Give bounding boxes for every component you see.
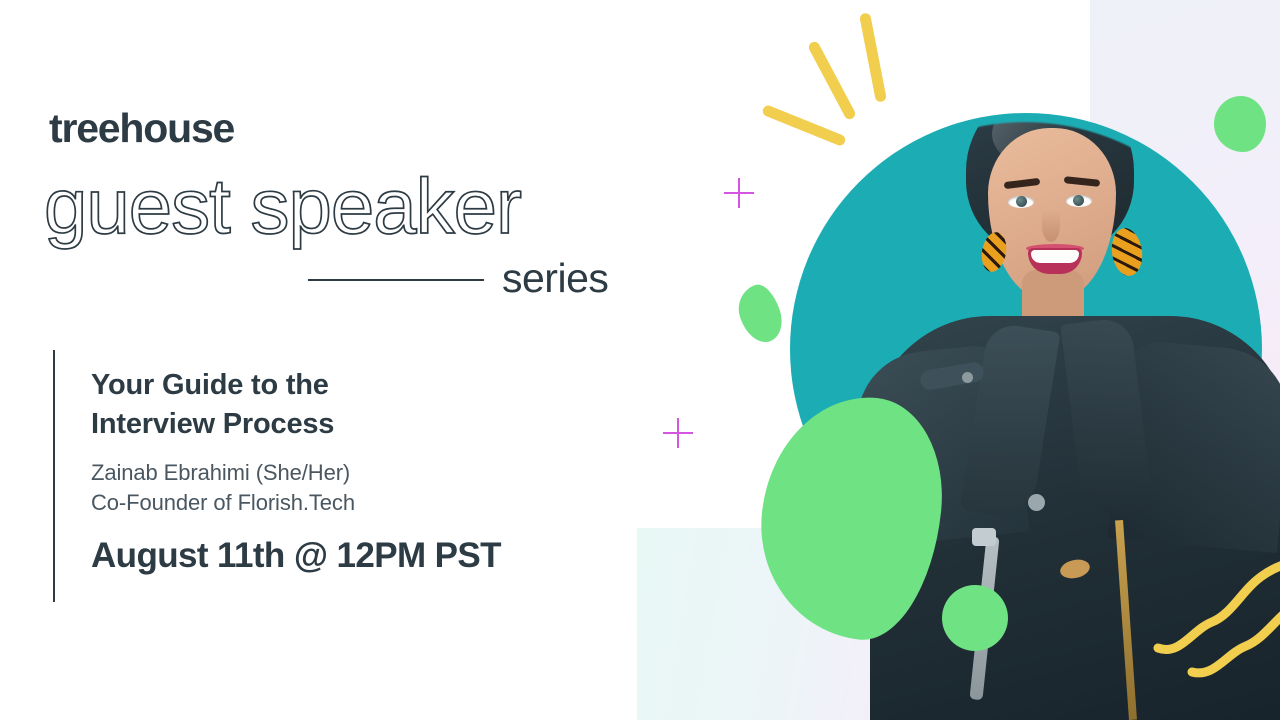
event-details: Your Guide to the Interview Process Zain… [91, 366, 571, 577]
zipper-pull [972, 528, 996, 546]
series-divider-rule [308, 279, 484, 281]
magenta-plus-icon [663, 418, 693, 448]
earring-right [1109, 226, 1145, 278]
pupil-left [1016, 196, 1027, 207]
event-title-line-1: Your Guide to the [91, 366, 571, 405]
green-circle [942, 585, 1008, 651]
content-column: treehouse guest speaker series Your Guid… [0, 0, 660, 720]
series-label: series [502, 252, 608, 305]
jacket-snap [962, 372, 973, 383]
series-row: series [308, 252, 628, 310]
speaker-info: Zainab Ebrahimi (She/Her) Co-Founder of … [91, 458, 571, 518]
teeth-shape [1031, 250, 1079, 263]
event-datetime: August 11th @ 12PM PST [91, 535, 571, 577]
yellow-wavy-lines [1150, 560, 1280, 680]
speaker-name: Zainab Ebrahimi (She/Her) [91, 458, 571, 488]
page-title: guest speaker [44, 164, 521, 248]
magenta-plus-icon [724, 178, 754, 208]
pupil-right [1073, 195, 1084, 206]
vertical-accent-bar [53, 350, 55, 602]
treehouse-logo: treehouse [49, 108, 234, 149]
promo-slide: treehouse guest speaker series Your Guid… [0, 0, 1280, 720]
speaker-role: Co-Founder of Florish.Tech [91, 488, 571, 518]
nose-shape [1042, 210, 1060, 242]
event-title-line-2: Interview Process [91, 405, 571, 444]
jacket-snap [1028, 494, 1045, 511]
